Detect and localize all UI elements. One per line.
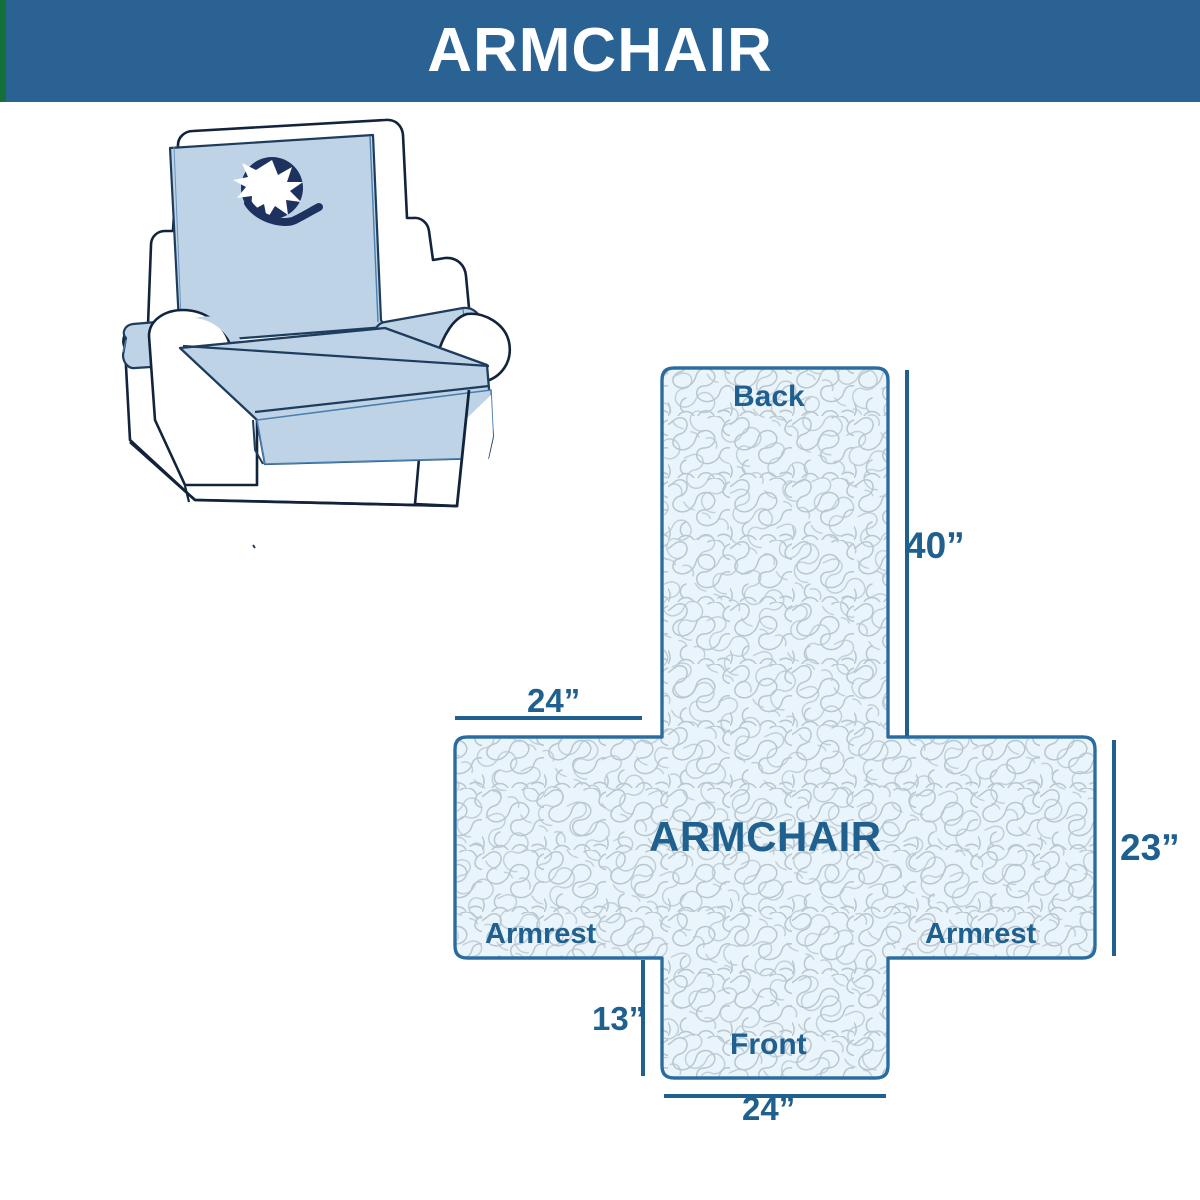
page-title: ARMCHAIR — [0, 0, 1200, 102]
panel-label-back: Back — [733, 380, 805, 414]
panel-label-armrest-left: Armrest — [485, 918, 596, 951]
dimension-label-front-width: 24” — [742, 1090, 795, 1128]
dimension-label-back-width: 24” — [527, 682, 580, 720]
dimension-label-front-height: 13” — [592, 1000, 645, 1038]
panel-label-armrest-right: Armrest — [925, 918, 1036, 951]
dimension-label-back-height: 40” — [905, 525, 965, 567]
panel-label-front: Front — [730, 1028, 807, 1062]
cover-cross-shape — [455, 368, 1095, 1078]
cover-diagram — [420, 230, 1160, 1110]
dimension-label-center-height: 23” — [1120, 827, 1180, 869]
panel-label-center: ARMCHAIR — [649, 813, 882, 861]
header-banner: ARMCHAIR — [0, 0, 1200, 102]
